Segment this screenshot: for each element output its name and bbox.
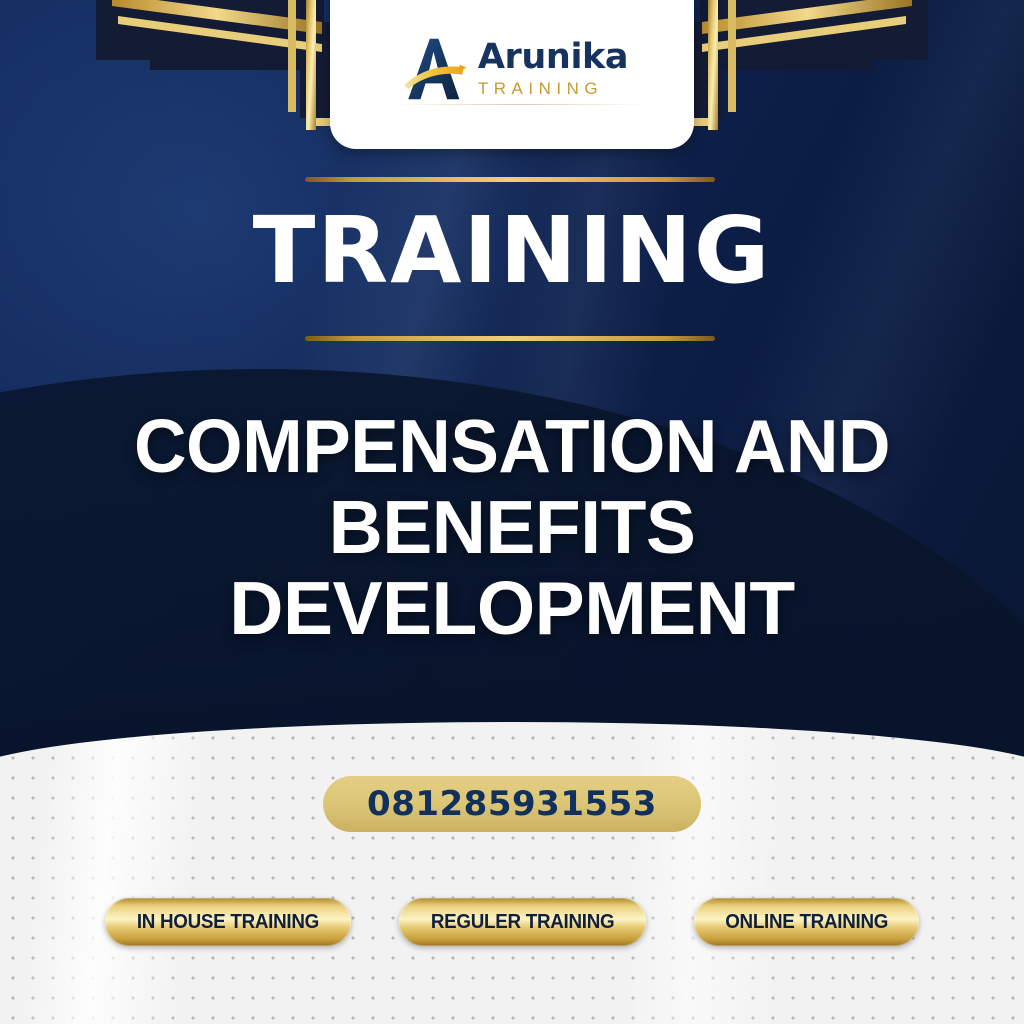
headline-line-2: BENEFITS [40, 487, 984, 568]
brand-subtitle: TRAINING [478, 80, 628, 97]
brand-name: Arunika [478, 40, 628, 75]
gold-rule-bottom [305, 336, 715, 341]
headline-line-3: DEVELOPMENT [40, 568, 984, 649]
training-type-button-row: IN HOUSE TRAINING REGULER TRAINING ONLIN… [0, 898, 1024, 946]
gold-rule-top [305, 177, 715, 182]
logo-divider [392, 104, 648, 105]
promo-poster: Arunika TRAINING TRAINING COMPENSATION A… [0, 0, 1024, 1024]
eyebrow-title: TRAINING [0, 205, 1024, 297]
in-house-training-label: IN HOUSE TRAINING [137, 911, 319, 934]
page-title: COMPENSATION AND BENEFITS DEVELOPMENT [40, 406, 984, 649]
reguler-training-label: REGULER TRAINING [431, 911, 614, 934]
in-house-training-button[interactable]: IN HOUSE TRAINING [105, 898, 351, 946]
band-sheen [0, 722, 1024, 1024]
bottom-dotted-band [0, 722, 1024, 1024]
headline-line-1: COMPENSATION AND [54, 406, 970, 487]
online-training-button[interactable]: ONLINE TRAINING [694, 898, 919, 946]
letter-a-swoosh-logo-icon [396, 33, 468, 105]
reguler-training-button[interactable]: REGULER TRAINING [399, 898, 646, 946]
phone-number-badge[interactable]: 081285931553 [323, 776, 701, 832]
brand-logo-card: Arunika TRAINING [330, 0, 694, 149]
online-training-label: ONLINE TRAINING [725, 911, 888, 934]
